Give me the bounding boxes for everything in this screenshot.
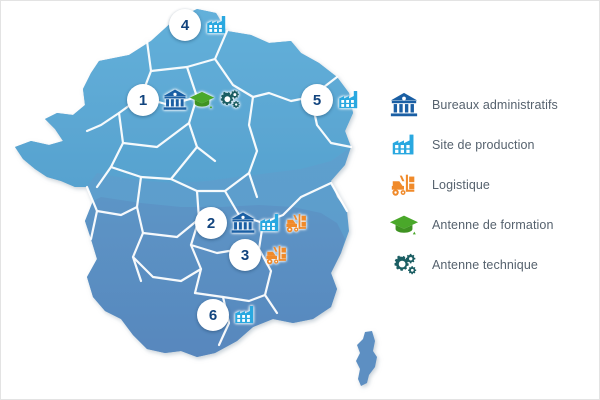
factory-icon (387, 130, 421, 160)
marker-badge-2[interactable]: 2 (195, 207, 227, 239)
marker-badge-6[interactable]: 6 (197, 299, 229, 331)
map-marker-3[interactable]: 3 (229, 239, 290, 271)
map-marker-5[interactable]: 5 (301, 84, 362, 116)
map-screenshot: 4 1 (0, 0, 600, 400)
factory-icon (336, 87, 362, 113)
graduation-cap-icon (387, 210, 421, 240)
factory-icon (257, 210, 283, 236)
legend-label: Logistique (432, 178, 490, 192)
marker-badge-5[interactable]: 5 (301, 84, 333, 116)
map-legend: Bureaux administratifs Site d (387, 85, 599, 285)
map-marker-2[interactable]: 2 (195, 207, 310, 239)
factory-icon (232, 302, 258, 328)
legend-label: Site de production (432, 138, 535, 152)
france-map[interactable]: 4 1 (1, 1, 391, 400)
legend-label: Antenne technique (432, 258, 538, 272)
forklift-icon (284, 210, 310, 236)
marker-icons-6 (232, 302, 258, 328)
marker-icons-1 (162, 87, 242, 113)
marker-icons-2 (230, 210, 310, 236)
map-marker-1[interactable]: 1 (127, 84, 242, 116)
legend-label: Antenne de formation (432, 218, 554, 232)
factory-icon (204, 12, 230, 38)
marker-icons-4 (204, 12, 230, 38)
map-landmass (15, 9, 377, 386)
gears-icon (387, 250, 421, 280)
bank-icon (230, 210, 256, 236)
marker-badge-4[interactable]: 4 (169, 9, 201, 41)
france-map-svg (1, 1, 391, 400)
legend-item-bureaux-administratifs[interactable]: Bureaux administratifs (387, 85, 599, 125)
legend-item-site-de-production[interactable]: Site de production (387, 125, 599, 165)
bank-icon (387, 90, 421, 120)
forklift-icon (264, 242, 290, 268)
legend-label: Bureaux administratifs (432, 98, 558, 112)
marker-icons-3 (264, 242, 290, 268)
marker-badge-3[interactable]: 3 (229, 239, 261, 271)
legend-item-antenne-technique[interactable]: Antenne technique (387, 245, 599, 285)
forklift-icon (387, 170, 421, 200)
legend-item-antenne-de-formation[interactable]: Antenne de formation (387, 205, 599, 245)
gears-icon (216, 87, 242, 113)
marker-icons-5 (336, 87, 362, 113)
map-marker-4[interactable]: 4 (169, 9, 230, 41)
graduation-cap-icon (189, 87, 215, 113)
marker-badge-1[interactable]: 1 (127, 84, 159, 116)
corsica-island (356, 331, 377, 386)
bank-icon (162, 87, 188, 113)
map-marker-6[interactable]: 6 (197, 299, 258, 331)
legend-item-logistique[interactable]: Logistique (387, 165, 599, 205)
